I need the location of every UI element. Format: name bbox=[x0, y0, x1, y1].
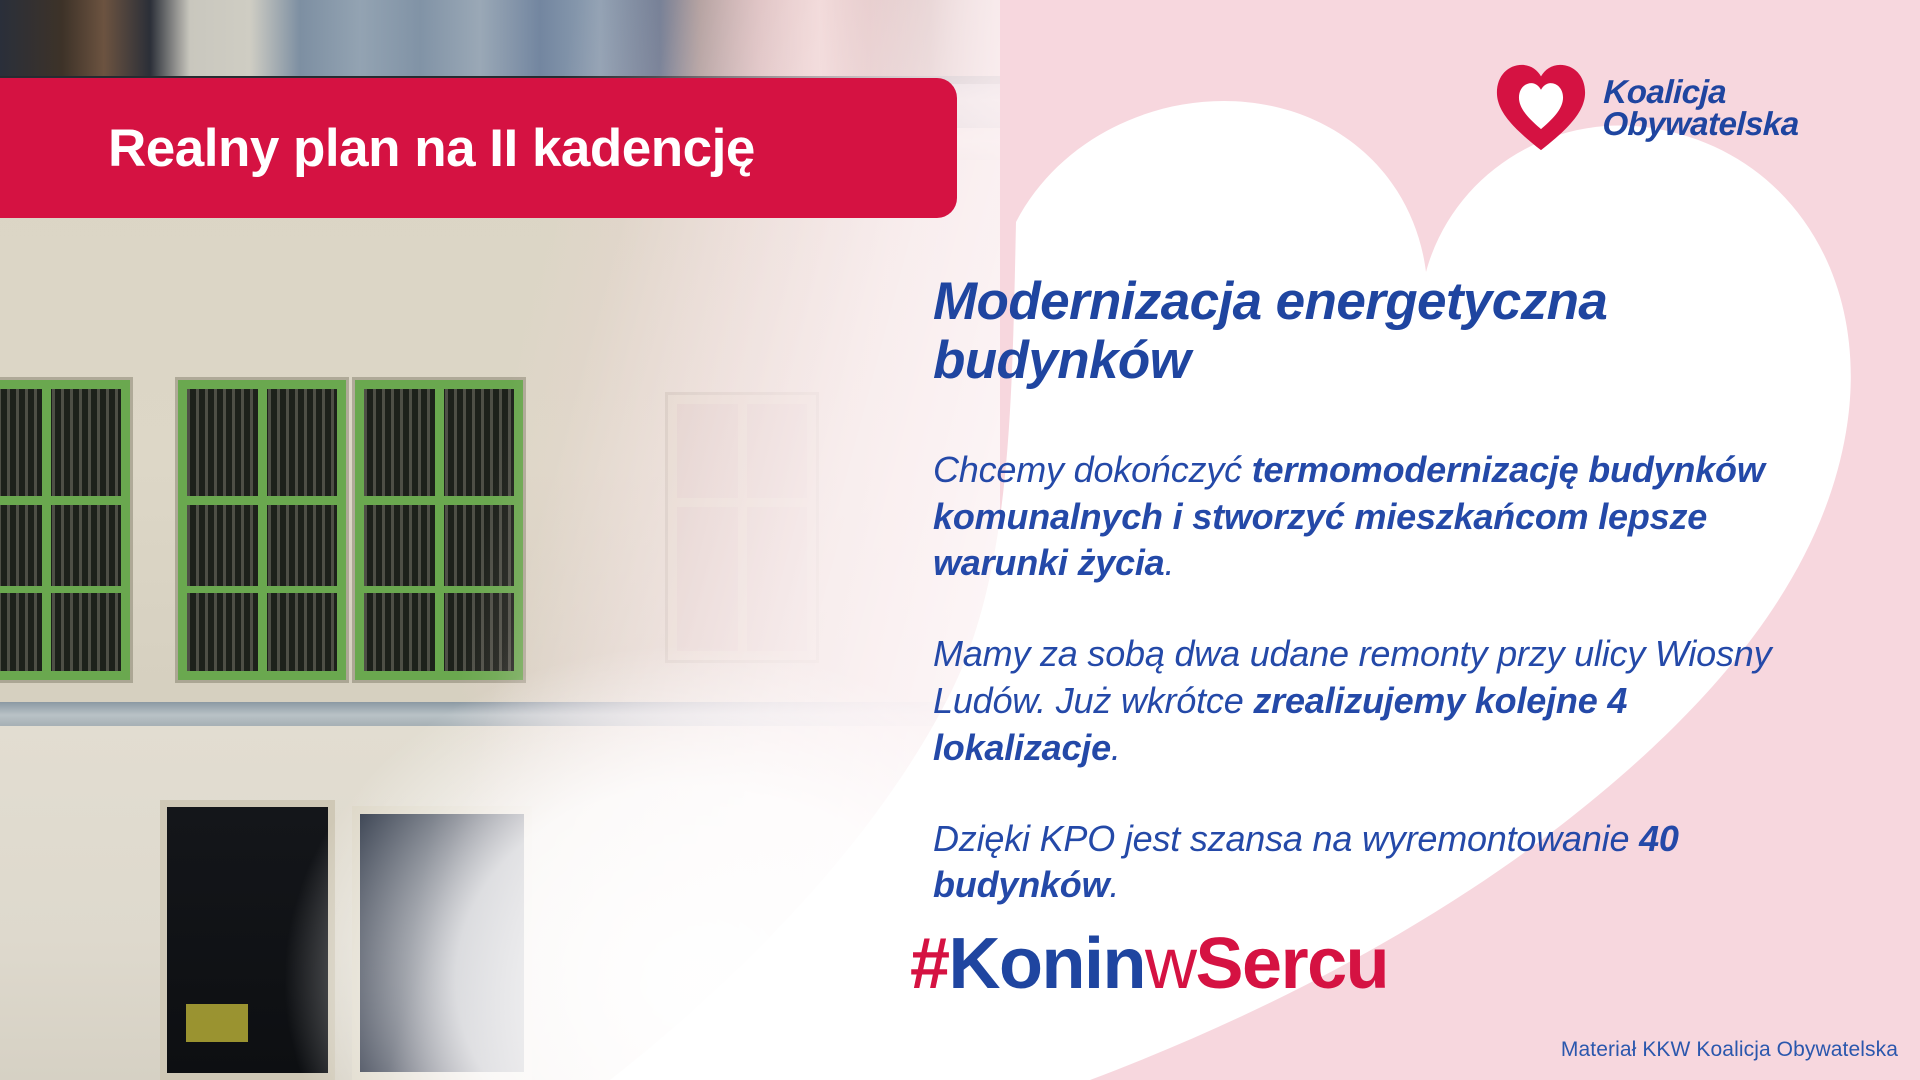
heart-icon bbox=[1493, 62, 1589, 154]
text-run: Chcemy dokończyć bbox=[933, 449, 1252, 490]
logo-line-1: Koalicja bbox=[1603, 76, 1800, 108]
campaign-hashtag: #KoninwSercu bbox=[910, 928, 1388, 1000]
page-title: Modernizacja energetyczna budynków bbox=[933, 272, 1753, 391]
campaign-poster: Realny plan na II kadencję Koalicja Obyw… bbox=[0, 0, 1920, 1080]
text-run: . bbox=[1111, 727, 1121, 768]
koalicja-obywatelska-logo: Koalicja Obywatelska bbox=[1493, 62, 1823, 154]
banner-label: Realny plan na II kadencję bbox=[0, 118, 755, 179]
text-run: . bbox=[1109, 864, 1119, 905]
body-paragraph-1: Chcemy dokończyć termomodernizację budyn… bbox=[933, 447, 1813, 587]
logo-wordmark: Koalicja Obywatelska bbox=[1602, 76, 1801, 141]
headline-banner: Realny plan na II kadencję bbox=[0, 78, 957, 218]
text-run: . bbox=[1165, 542, 1175, 583]
footer-attribution: Materiał KKW Koalicja Obywatelska bbox=[1561, 1038, 1898, 1062]
hashtag-part-w: w bbox=[1145, 924, 1196, 1004]
hashtag-symbol: # bbox=[910, 924, 949, 1004]
body-paragraph-2: Mamy za sobą dwa udane remonty przy ulic… bbox=[933, 631, 1813, 771]
hashtag-part-konin: Konin bbox=[949, 924, 1145, 1004]
text-run: Dzięki KPO jest szansa na wyremontowanie bbox=[933, 818, 1639, 859]
logo-line-2: Obywatelska bbox=[1602, 108, 1799, 140]
hashtag-part-sercu: Sercu bbox=[1196, 924, 1389, 1004]
body-paragraph-3: Dzięki KPO jest szansa na wyremontowanie… bbox=[933, 816, 1813, 910]
content-block: Modernizacja energetyczna budynków Chcem… bbox=[933, 272, 1863, 953]
